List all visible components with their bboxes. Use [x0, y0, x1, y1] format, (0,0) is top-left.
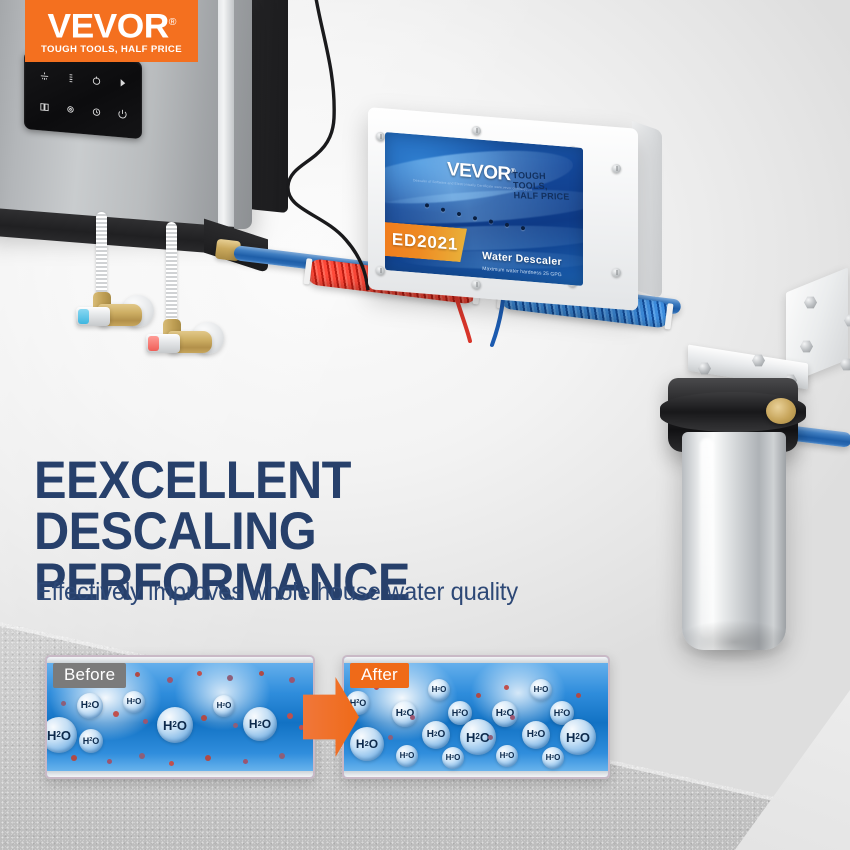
- molecule: H2O: [396, 745, 418, 767]
- mineral-particle: [61, 701, 66, 706]
- mineral-particle: [197, 671, 202, 676]
- mineral-particle: [287, 713, 293, 719]
- product-marketing-image: VEVOR® TOUGH TOOLS, HALF PRICE Descaler …: [0, 0, 850, 850]
- brand-logo: VEVOR® TOUGH TOOLS, HALF PRICE: [25, 0, 198, 62]
- power-icon[interactable]: [110, 98, 134, 129]
- molecule: H2O: [392, 701, 418, 727]
- water-descaler-unit: VEVOR® TOUGH TOOLS, HALF PRICE Descaler …: [368, 118, 638, 300]
- up-arrow-icon[interactable]: [110, 67, 134, 98]
- settings-icon[interactable]: [58, 94, 82, 125]
- mineral-particle: [279, 753, 285, 759]
- before-panel-rim-bottom: [47, 771, 313, 777]
- descaler-screw-bl: [376, 266, 385, 276]
- cold-indicator-cap: [78, 309, 89, 324]
- molecule: H2O: [492, 701, 518, 727]
- mineral-particle: [107, 759, 112, 764]
- molecule: H2O: [560, 719, 596, 755]
- timer-icon[interactable]: [84, 96, 108, 127]
- descaler-screw-tm: [472, 126, 481, 136]
- mineral-particle: [504, 685, 509, 690]
- power-eco-icon[interactable]: [84, 65, 108, 96]
- logo-wordmark: VEVOR®: [47, 7, 175, 42]
- mineral-particle: [71, 755, 77, 761]
- mineral-particle: [488, 735, 493, 740]
- molecule: H2O: [422, 721, 450, 749]
- mineral-particle: [388, 735, 393, 740]
- after-badge: After: [350, 663, 409, 688]
- molecule: H2O: [243, 707, 277, 741]
- mineral-particle: [205, 755, 211, 761]
- before-after-comparison: H2O H2O H2O H2O H2O H2O H2O: [45, 655, 610, 785]
- mineral-particle: [510, 715, 515, 720]
- molecule: H2O: [428, 679, 450, 701]
- mineral-particle: [143, 719, 148, 724]
- molecule: H2O: [542, 747, 564, 769]
- descaler-screw-tl: [376, 132, 385, 142]
- heater-front-edge: [218, 0, 234, 229]
- mineral-particle: [227, 675, 233, 681]
- shower-icon[interactable]: [32, 61, 56, 92]
- before-badge: Before: [53, 663, 126, 688]
- whole-house-filter: [660, 270, 840, 700]
- mineral-particle: [259, 671, 264, 676]
- hot-flex-hose: [166, 222, 177, 330]
- descaler-product-label: VEVOR® TOUGH TOOLS, HALF PRICE Descaler …: [385, 132, 583, 286]
- molecule: H2O: [442, 747, 464, 769]
- molecule: H2O: [522, 721, 550, 749]
- mineral-particle: [139, 753, 145, 759]
- filter-outlet-port: [766, 398, 796, 424]
- filter-bowl: [682, 432, 786, 650]
- molecule: H2O: [123, 691, 145, 713]
- heater-control-panel[interactable]: [24, 51, 142, 139]
- mineral-particle: [135, 672, 140, 677]
- after-panel-rim-bottom: [344, 771, 608, 777]
- molecule: H2O: [213, 695, 235, 717]
- mineral-particle: [169, 761, 174, 766]
- mineral-particle: [233, 723, 238, 728]
- before-panel: H2O H2O H2O H2O H2O H2O H2O: [45, 655, 315, 779]
- page-subtitle: Effectively improves whole house water q…: [36, 578, 568, 607]
- molecule: H2O: [350, 727, 384, 761]
- molecule: H2O: [79, 729, 103, 753]
- label-model-badge: ED2021: [385, 222, 467, 263]
- temperature-icon[interactable]: [58, 63, 82, 94]
- descaler-screw-side-top: [612, 164, 621, 173]
- descaler-screw-bm: [472, 280, 481, 290]
- menu-icon[interactable]: [32, 92, 56, 123]
- molecule: H2O: [157, 707, 193, 743]
- molecule: H2O: [530, 679, 552, 701]
- mineral-particle: [167, 677, 173, 683]
- mineral-particle: [576, 693, 581, 698]
- mineral-particle: [476, 693, 481, 698]
- descaler-screw-side-bottom: [612, 268, 621, 277]
- hot-indicator-cap: [148, 336, 159, 351]
- after-panel: H2O H2O H2O H2O H2O H2O H2O H2O H2O H2O …: [342, 655, 610, 779]
- filter-shadow: [674, 620, 794, 664]
- mineral-particle: [201, 715, 207, 721]
- headline-line-1: EEXCELLENT DESCALING: [34, 455, 549, 557]
- mineral-particle: [410, 715, 415, 720]
- cold-flex-hose: [96, 212, 107, 304]
- logo-tagline: TOUGH TOOLS, HALF PRICE: [41, 44, 182, 55]
- mineral-particle: [243, 759, 248, 764]
- mineral-particle: [113, 711, 119, 717]
- filter-bowl-highlight: [700, 438, 714, 638]
- mineral-particle: [289, 677, 295, 683]
- molecule: H2O: [77, 693, 103, 719]
- molecule: H2O: [496, 745, 518, 767]
- molecule: H2O: [45, 717, 77, 753]
